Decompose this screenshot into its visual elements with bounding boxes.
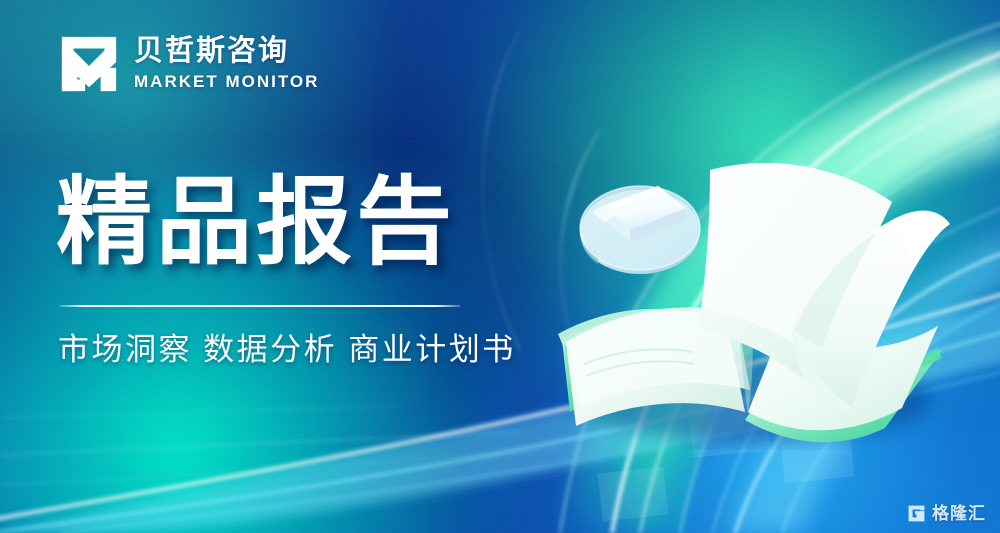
title-divider (60, 305, 460, 307)
report-banner: 贝哲斯咨询 MARKET MONITOR 精品报告 市场洞察 数据分析 商业计划… (0, 0, 1000, 533)
gelonghui-g-logo-icon (907, 504, 926, 523)
brand-name-cn: 贝哲斯咨询 (134, 35, 319, 68)
brand-logo: 贝哲斯咨询 MARKET MONITOR (58, 33, 319, 95)
page-subtitle: 市场洞察 数据分析 商业计划书 (58, 330, 516, 370)
watermark-text: 格隆汇 (932, 505, 986, 522)
market-monitor-m-logo-icon (58, 33, 120, 95)
page-title: 精品报告 (56, 173, 456, 274)
book-illustration-graphic (540, 150, 960, 450)
brand-logo-text: 贝哲斯咨询 MARKET MONITOR (134, 35, 319, 93)
open-book-with-pie-chart-illustration (540, 150, 960, 450)
brand-name-en: MARKET MONITOR (134, 71, 319, 93)
watermark: 格隆汇 (907, 504, 986, 523)
